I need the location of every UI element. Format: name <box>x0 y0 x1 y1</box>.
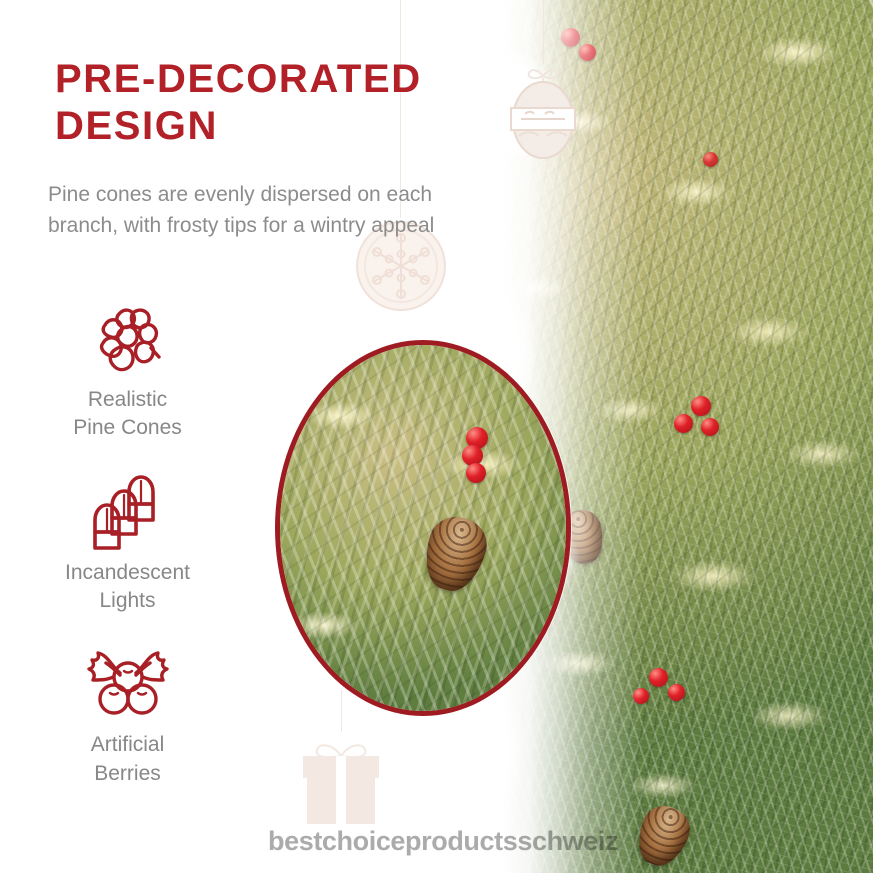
page-title-line2: DESIGN <box>55 103 495 150</box>
watermark-text: bestchoiceproductsschweiz <box>268 826 618 857</box>
page-title-line1: PRE-DECORATED <box>55 56 495 103</box>
holly-berries-icon <box>20 645 235 723</box>
feature-label: Artificial Berries <box>20 731 235 788</box>
feature-label: Incandescent Lights <box>20 559 235 616</box>
feature-label-line1: Artificial <box>20 731 235 759</box>
feature-label: Realistic Pine Cones <box>20 386 235 443</box>
feature-list: Realistic Pine Cones Incande <box>20 300 235 818</box>
gift-box-icon <box>295 728 391 828</box>
inset-berry <box>466 463 486 483</box>
inset-needle-shadows <box>280 345 566 711</box>
feature-label-line1: Incandescent <box>20 559 235 587</box>
feature-item-lights: Incandescent Lights <box>20 473 235 616</box>
page-title: PRE-DECORATED DESIGN <box>55 56 495 150</box>
marketing-image: PRE-DECORATED DESIGN Pine cones are even… <box>0 0 873 873</box>
feature-label-line1: Realistic <box>20 386 235 414</box>
berry <box>703 152 718 167</box>
feature-label-line2: Lights <box>20 587 235 615</box>
page-description: Pine cones are evenly dispersed on each … <box>48 180 478 241</box>
berry <box>691 396 711 416</box>
light-bulbs-icon <box>20 473 235 551</box>
feature-item-pine-cones: Realistic Pine Cones <box>20 300 235 443</box>
ornament-string <box>543 0 544 64</box>
magnified-closeup-inset <box>275 340 571 716</box>
feature-label-line2: Pine Cones <box>20 414 235 442</box>
pine-cone-icon <box>20 300 235 378</box>
feature-label-line2: Berries <box>20 760 235 788</box>
feature-item-berries: Artificial Berries <box>20 645 235 788</box>
berry <box>701 418 719 436</box>
